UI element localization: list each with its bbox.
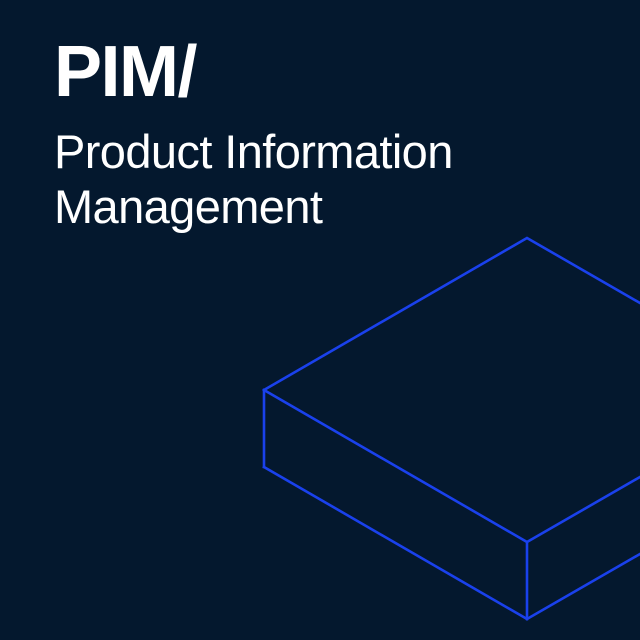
page-subtitle-line-1: Product Information <box>54 124 574 179</box>
bottom-right-edge <box>527 554 640 619</box>
page-subtitle: Product Information Management <box>54 124 574 234</box>
poster-canvas: PIM/ Product Information Management <box>0 0 640 640</box>
page-title: PIM/ <box>54 36 574 108</box>
top-face-back-edges <box>264 238 640 390</box>
page-subtitle-line-2: Management <box>54 179 574 234</box>
poster-text-block: PIM/ Product Information Management <box>54 36 574 234</box>
box-side-faces <box>264 390 640 619</box>
bottom-left-edge <box>264 467 527 619</box>
top-face-front-edges <box>264 390 640 542</box>
box-top-face <box>264 238 640 542</box>
